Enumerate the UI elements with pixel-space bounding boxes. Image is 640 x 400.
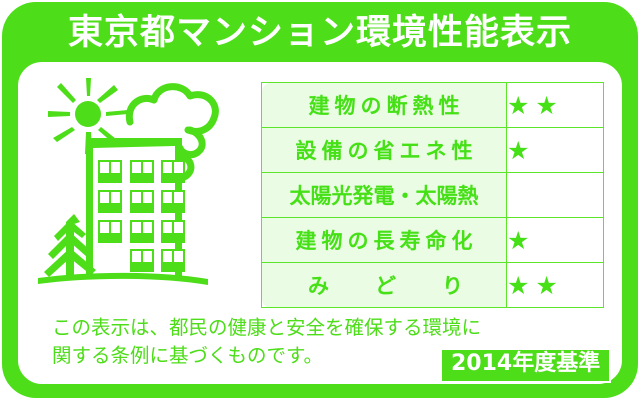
illustration	[30, 72, 265, 302]
criterion-cell: 太陽光発電・太陽熱	[262, 173, 507, 218]
page-title: 東京都マンション環境性能表示	[68, 16, 572, 51]
footer-note: この表示は、都民の健康と安全を確保する環境に 関する条例に基づくものです。	[52, 314, 492, 371]
standard-badge: 2014年度基準	[440, 348, 611, 383]
table-row: みどり ★★	[262, 263, 604, 308]
content-card: 建物の断熱性 ★★ 設備の省エネ性 ★ 太陽光発電・太陽熱	[18, 62, 622, 384]
criterion-cell: 設備の省エネ性	[262, 128, 507, 173]
criterion-label: 建物の長寿命化	[262, 225, 506, 255]
criterion-cell: 建物の長寿命化	[262, 218, 507, 263]
footer: この表示は、都民の健康と安全を確保する環境に 関する条例に基づくものです。 20…	[20, 312, 624, 384]
apartment-building-icon	[86, 138, 185, 276]
rating-cell	[507, 173, 604, 218]
table-row: 設備の省エネ性 ★	[262, 128, 604, 173]
rating-cell: ★★	[507, 263, 604, 308]
rating-cell: ★	[507, 218, 604, 263]
environmental-performance-label: 東京都マンション環境性能表示	[2, 2, 638, 398]
criterion-label: 太陽光発電・太陽熱	[262, 180, 506, 210]
table-row: 太陽光発電・太陽熱	[262, 173, 604, 218]
criterion-label: みどり	[262, 270, 506, 300]
table-row: 建物の断熱性 ★★	[262, 83, 604, 128]
criterion-label: 建物の断熱性	[262, 90, 506, 120]
building-window	[98, 220, 185, 243]
performance-table: 建物の断熱性 ★★ 設備の省エネ性 ★ 太陽光発電・太陽熱	[261, 82, 604, 308]
footer-note-line-2: 関する条例に基づくものです。	[52, 342, 492, 370]
rating-cell: ★★	[507, 83, 604, 128]
building-window	[98, 190, 185, 213]
footer-note-line-1: この表示は、都民の健康と安全を確保する環境に	[52, 314, 492, 342]
building-window	[130, 249, 185, 272]
criterion-cell: みどり	[262, 263, 507, 308]
criterion-label: 設備の省エネ性	[262, 135, 506, 165]
header-band: 東京都マンション環境性能表示	[2, 2, 638, 64]
ground-line	[38, 273, 208, 285]
rating-cell: ★	[507, 128, 604, 173]
table-row: 建物の長寿命化 ★	[262, 218, 604, 263]
building-window	[98, 160, 185, 183]
criterion-cell: 建物の断熱性	[262, 83, 507, 128]
